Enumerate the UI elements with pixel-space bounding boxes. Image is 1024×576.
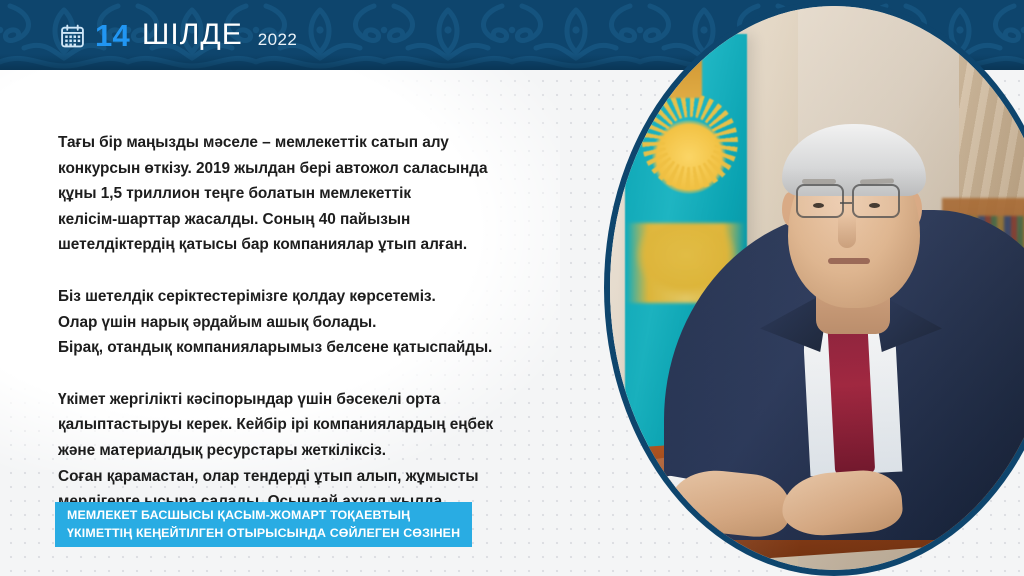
- date-year: 2022: [258, 31, 297, 48]
- nose: [838, 214, 856, 248]
- date-day: 14: [95, 20, 130, 51]
- photo-image: [610, 6, 1024, 570]
- eyeglasses-left-lens: [796, 184, 844, 218]
- date-group: 14 ШІЛДЕ 2022: [60, 0, 297, 70]
- necktie: [827, 311, 875, 475]
- presentation-slide: 14 ШІЛДЕ 2022 Тағы бір маңызды мәселе – …: [0, 0, 1024, 576]
- eyeglasses-bridge: [840, 202, 852, 204]
- date-month: ШІЛДЕ: [142, 20, 243, 50]
- mouth: [828, 258, 870, 264]
- eyeglasses-right-lens: [852, 184, 900, 218]
- portrait-photo: [604, 0, 1024, 576]
- photo-scene: [610, 6, 1024, 570]
- calendar-icon: [60, 23, 85, 49]
- paragraph-1: Тағы бір маңызды мәселе – мемлекеттік са…: [58, 130, 618, 258]
- eye-left: [813, 203, 824, 208]
- source-caption-banner: МЕМЛЕКЕТ БАСШЫСЫ ҚАСЫМ-ЖОМАРТ ТОҚАЕВТЫҢ …: [55, 502, 472, 547]
- speech-text-block: Тағы бір маңызды мәселе – мемлекеттік са…: [58, 130, 618, 540]
- paragraph-2: Біз шетелдік серіктестерімізге қолдау кө…: [58, 284, 618, 361]
- eye-right: [869, 203, 880, 208]
- flag-sun-rays: [642, 94, 738, 190]
- flag-pole-finial: [666, 38, 702, 98]
